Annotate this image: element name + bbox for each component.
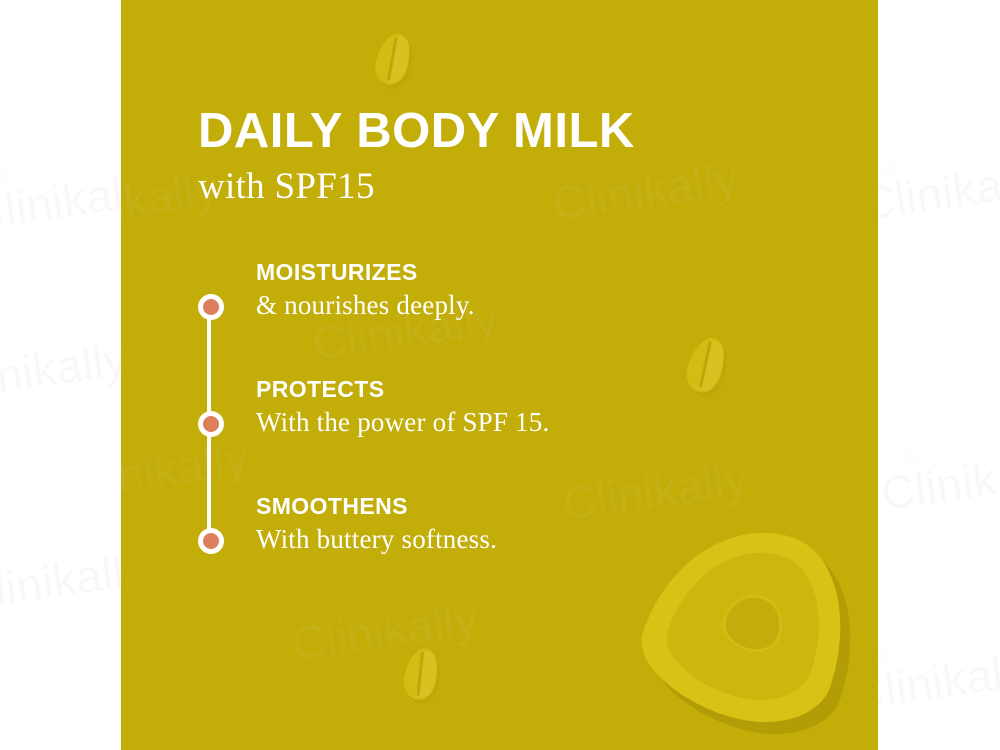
benefit-text: SMOOTHENS With buttery softness.: [256, 493, 756, 556]
watermark-text: Clinikally: [0, 332, 130, 409]
benefit-text: PROTECTS With the power of SPF 15.: [256, 376, 756, 439]
watermark-mark-icon: ◎: [882, 137, 1000, 179]
benefit-text: MOISTURIZES & nourishes deeply.: [256, 259, 756, 322]
watermark-text: Clinikally: [878, 442, 1000, 519]
page-subtitle: with SPF15: [198, 168, 375, 205]
benefit-item: PROTECTS With the power of SPF 15.: [198, 403, 758, 493]
timeline-dot-core: [203, 533, 219, 549]
page-title: DAILY BODY MILK: [198, 107, 635, 156]
product-banner: ◎ Clinikally ◎ Clinikally ◎ Clinikally ◎…: [0, 0, 1000, 750]
watermark: ◎ Clinikally: [876, 427, 1000, 520]
watermark-mark-icon: ◎: [902, 427, 1000, 469]
benefit-item: SMOOTHENS With buttery softness.: [198, 520, 758, 610]
benefit-item: MOISTURIZES & nourishes deeply.: [198, 286, 758, 376]
timeline-dot-icon: [198, 411, 224, 437]
timeline-dot-icon: [198, 528, 224, 554]
watermark-mark-icon: ◎: [0, 317, 124, 359]
timeline-dot-core: [203, 416, 219, 432]
timeline-dot-core: [203, 299, 219, 315]
benefit-heading: SMOOTHENS: [256, 493, 756, 519]
watermark-text: Clinikally: [858, 152, 1000, 229]
benefit-description: With the power of SPF 15.: [256, 406, 756, 438]
benefit-heading: MOISTURIZES: [256, 259, 756, 285]
watermark: ◎ Clinikally: [0, 317, 130, 410]
benefit-heading: PROTECTS: [256, 376, 756, 402]
benefit-description: With buttery softness.: [256, 523, 756, 555]
timeline-dot-icon: [198, 294, 224, 320]
banner-content: DAILY BODY MILK with SPF15 MOISTURIZES &…: [198, 0, 758, 750]
watermark-mark-icon: ◎: [872, 627, 1000, 669]
benefit-description: & nourishes deeply.: [256, 289, 756, 321]
benefits-timeline: MOISTURIZES & nourishes deeply. PROTECTS…: [198, 260, 758, 580]
